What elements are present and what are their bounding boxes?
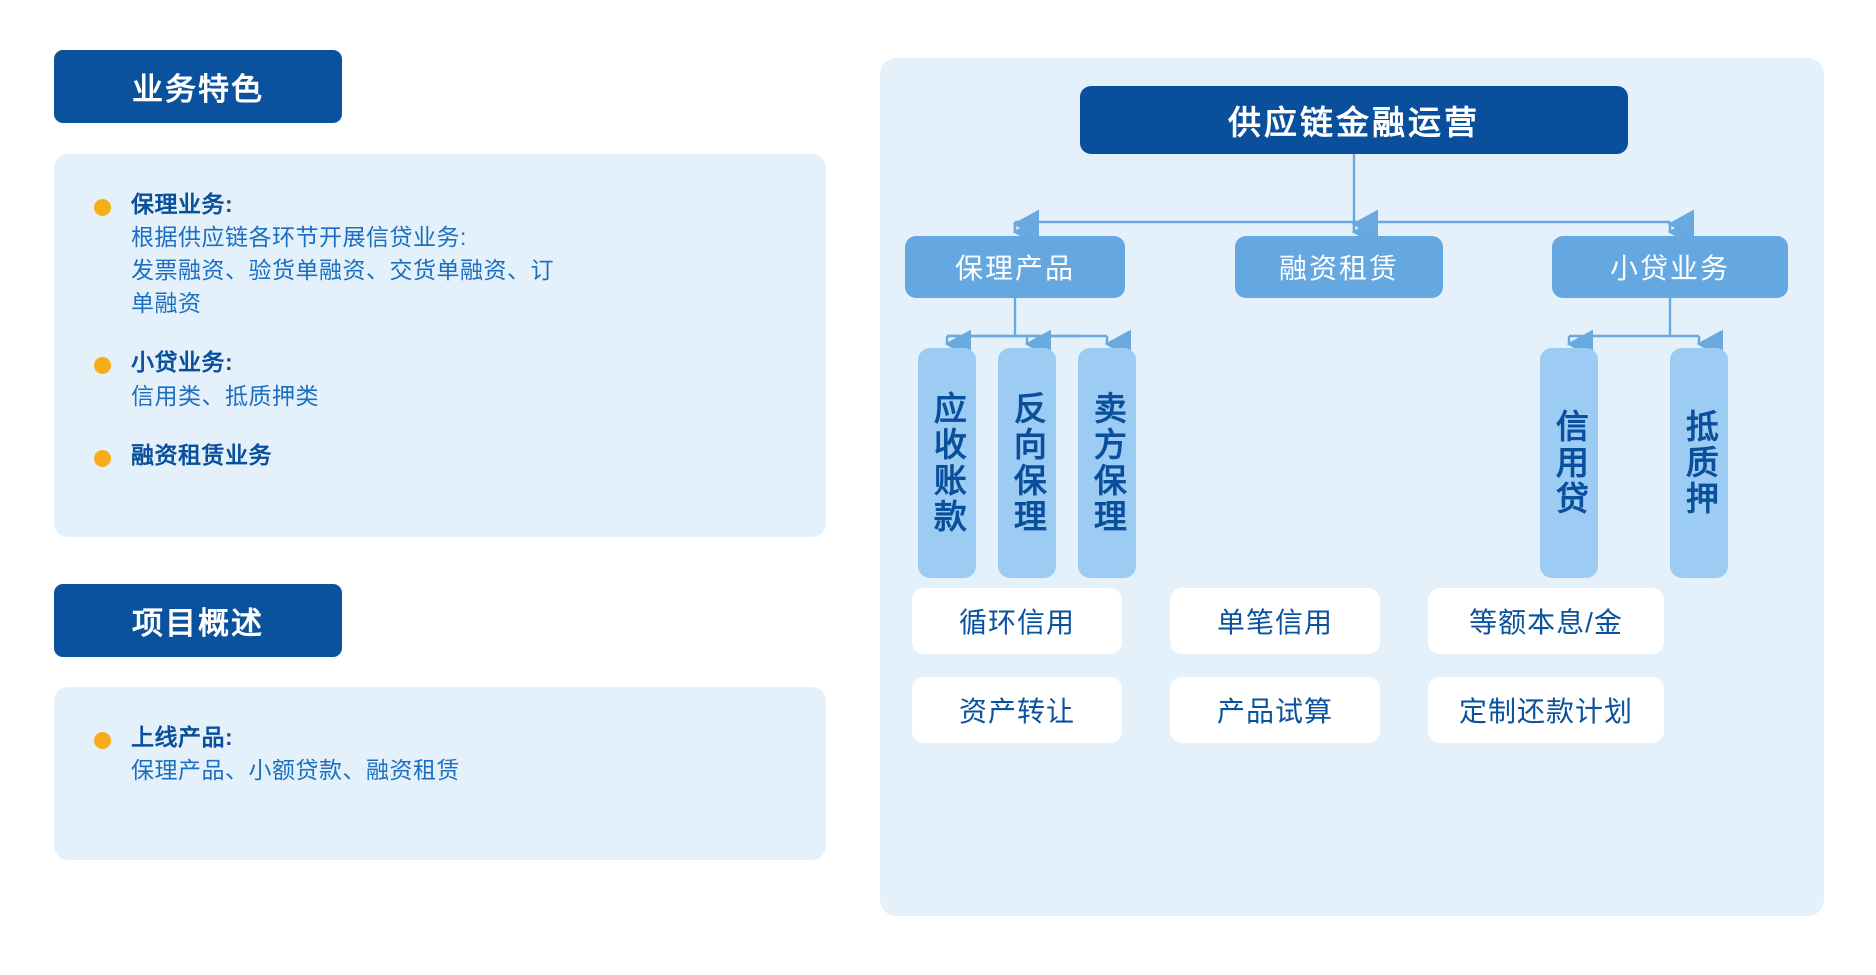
node-level2-financial-leasing[interactable]: 融资租赁 bbox=[1235, 236, 1443, 298]
section-tag-project-overview: 项目概述 bbox=[54, 584, 342, 657]
node-level3-seller-factoring[interactable]: 卖方保理 bbox=[1078, 348, 1136, 578]
list-item: 上线产品: 保理产品、小额贷款、融资租赁 bbox=[94, 721, 786, 787]
bullet-text: 根据供应链各环节开展信贷业务: 发票融资、验货单融资、交货单融资、订 单融资 bbox=[131, 221, 554, 319]
node-level3-reverse-factoring[interactable]: 反向保理 bbox=[998, 348, 1056, 578]
card-equal-principal-interest[interactable]: 等额本息/金 bbox=[1428, 588, 1664, 654]
bullet-dot-icon bbox=[94, 357, 111, 374]
panel-project-overview: 上线产品: 保理产品、小额贷款、融资租赁 bbox=[54, 687, 826, 860]
list-item: 小贷业务: 信用类、抵质押类 bbox=[94, 346, 786, 412]
bullet-title: 上线产品: bbox=[131, 721, 460, 754]
bullet-text: 保理产品、小额贷款、融资租赁 bbox=[131, 754, 460, 787]
node-level3-credit-loan[interactable]: 信用贷 bbox=[1540, 348, 1598, 578]
panel-business-features: 保理业务: 根据供应链各环节开展信贷业务: 发票融资、验货单融资、交货单融资、订… bbox=[54, 154, 826, 537]
node-level2-factoring-product[interactable]: 保理产品 bbox=[905, 236, 1125, 298]
section-tag-business-features: 业务特色 bbox=[54, 50, 342, 123]
card-asset-transfer[interactable]: 资产转让 bbox=[912, 677, 1122, 743]
card-custom-repayment-plan[interactable]: 定制还款计划 bbox=[1428, 677, 1664, 743]
card-revolving-credit[interactable]: 循环信用 bbox=[912, 588, 1122, 654]
node-level3-receivables[interactable]: 应收账款 bbox=[918, 348, 976, 578]
bullet-title: 小贷业务: bbox=[131, 346, 319, 379]
node-root[interactable]: 供应链金融运营 bbox=[1080, 86, 1628, 154]
node-level2-microloan[interactable]: 小贷业务 bbox=[1552, 236, 1788, 298]
card-product-calculation[interactable]: 产品试算 bbox=[1170, 677, 1380, 743]
left-column: 业务特色 保理业务: 根据供应链各环节开展信贷业务: 发票融资、验货单融资、交货… bbox=[54, 50, 826, 860]
list-item: 融资租赁业务 bbox=[94, 439, 786, 472]
bullet-text: 信用类、抵质押类 bbox=[131, 380, 319, 413]
card-single-credit[interactable]: 单笔信用 bbox=[1170, 588, 1380, 654]
bullet-title: 融资租赁业务 bbox=[131, 439, 272, 472]
list-item: 保理业务: 根据供应链各环节开展信贷业务: 发票融资、验货单融资、交货单融资、订… bbox=[94, 188, 786, 319]
node-level3-collateral-pledge[interactable]: 抵质押 bbox=[1670, 348, 1728, 578]
bullet-dot-icon bbox=[94, 450, 111, 467]
org-chart-panel: 供应链金融运营 保理产品 融资租赁 小贷业务 应收账款 反向保理 卖方保理 信用… bbox=[880, 58, 1824, 916]
bullet-dot-icon bbox=[94, 732, 111, 749]
bullet-dot-icon bbox=[94, 199, 111, 216]
bullet-title: 保理业务: bbox=[131, 188, 554, 221]
